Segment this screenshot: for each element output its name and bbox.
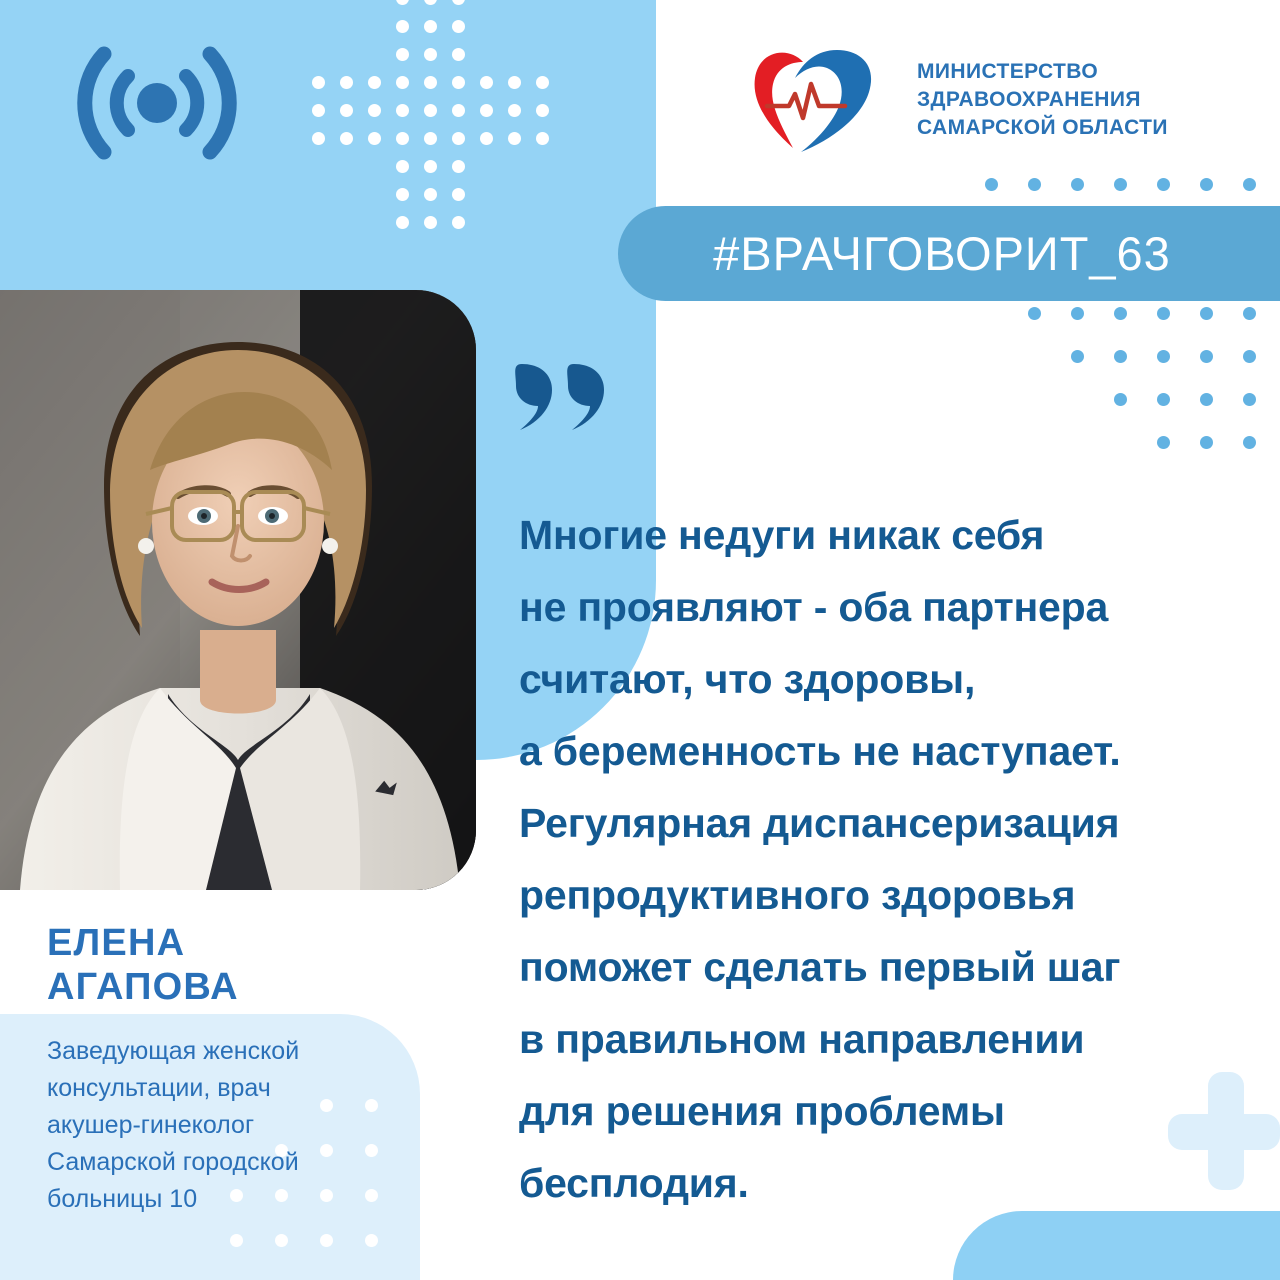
poster-canvas: МИНИСТЕРСТВО ЗДРАВООХРАНЕНИЯ САМАРСКОЙ О… [0,0,1280,1280]
heart-ecg-logo-icon [745,44,895,156]
ministry-logo-text: МИНИСТЕРСТВО ЗДРАВООХРАНЕНИЯ САМАРСКОЙ О… [917,58,1168,142]
logo-line-1: МИНИСТЕРСТВО [917,58,1168,86]
bottom-right-blue-shape [953,1211,1280,1280]
hashtag-label: #ВРАЧГОВОРИТ_63 [713,226,1185,281]
medical-cross-icon [1168,1072,1280,1190]
broadcast-waves-icon [62,38,252,168]
logo-line-3: САМАРСКОЙ ОБЛАСТИ [917,114,1168,142]
hashtag-banner: #ВРАЧГОВОРИТ_63 [618,206,1280,301]
doctor-photo [0,290,476,890]
ministry-logo: МИНИСТЕРСТВО ЗДРАВООХРАНЕНИЯ САМАРСКОЙ О… [745,40,1205,160]
logo-line-2: ЗДРАВООХРАНЕНИЯ [917,86,1168,114]
quote-text: Многие недуги никак себя не проявляют - … [519,499,1239,1219]
cross-horizontal-bar [1168,1114,1280,1150]
doctor-title: Заведующая женской консультации, врач ак… [47,1033,407,1218]
cross-dot-pattern-icon [312,0,562,232]
quotation-marks-icon [512,360,612,432]
doctor-name: ЕЛЕНА АГАПОВА [47,921,467,1009]
